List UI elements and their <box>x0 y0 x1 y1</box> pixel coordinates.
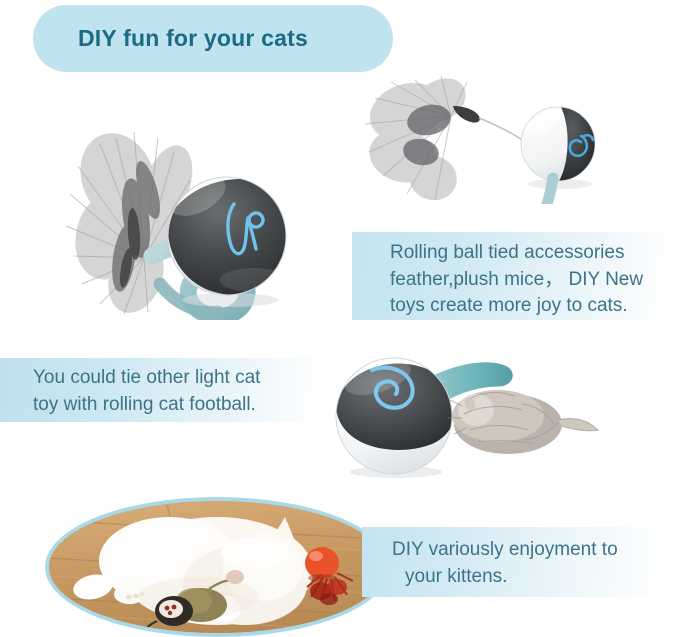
cat-playing-photo <box>45 497 390 637</box>
caption-line: toys create more joy to cats. <box>390 293 679 320</box>
caption-line: You could tie other light cat <box>33 365 330 392</box>
ball-with-feather-wand-image <box>48 108 310 320</box>
ball-with-plush-mouse-image <box>312 348 604 480</box>
caption-line: DIY variously enjoyment to <box>392 537 679 564</box>
caption-line: Rolling ball tied accessories <box>390 240 679 267</box>
header-banner: DIY fun for your cats <box>33 5 393 72</box>
rolling-ball <box>336 354 456 478</box>
caption-line: toy with rolling cat football. <box>33 392 330 419</box>
caption-line: feather,plush mice， DIY New <box>390 267 679 294</box>
rolling-ball <box>521 103 597 204</box>
rolling-ball-accessories-caption: Rolling ball tied accessories feather,pl… <box>352 232 679 320</box>
tie-other-toy-caption: You could tie other light cat toy with r… <box>0 358 330 422</box>
diy-enjoyment-caption: DIY variously enjoyment to your kittens. <box>362 527 679 597</box>
page-title: DIY fun for your cats <box>78 25 308 52</box>
feather-teaser <box>362 72 480 204</box>
caption-line: your kittens. <box>392 564 679 591</box>
cat-photo-artwork <box>49 501 386 633</box>
plush-mouse-toy <box>448 390 598 454</box>
ball-with-feather-on-string-image <box>355 72 617 204</box>
